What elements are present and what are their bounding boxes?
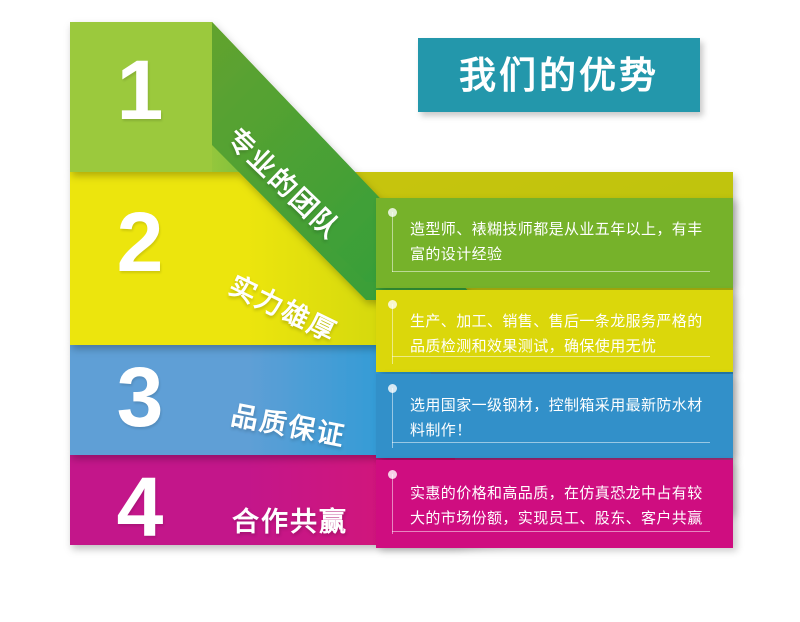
bullet-dot-icon bbox=[388, 208, 397, 217]
description-text-4: 实惠的价格和高品质，在仿真恐龙中占有较大的市场份额，实现员工、股东、客户共赢 bbox=[410, 482, 711, 532]
bracket-vertical-line bbox=[392, 212, 393, 272]
description-text-1: 造型师、裱糊技师都是从业五年以上，有丰富的设计经验 bbox=[410, 218, 711, 268]
item-number-2: 2 bbox=[95, 200, 185, 284]
infographic-canvas: 1 2 3 4 专业的团队 实力雄厚 品质保证 合作共赢 我们的优势 造型师、裱… bbox=[0, 0, 800, 622]
description-text-3: 选用国家一级钢材，控制箱采用最新防水材料制作！ bbox=[410, 394, 711, 444]
item-label-4: 合作共赢 bbox=[232, 500, 348, 539]
heading-banner: 我们的优势 bbox=[418, 38, 700, 112]
bullet-dot-icon bbox=[388, 470, 397, 479]
bracket-vertical-line bbox=[392, 388, 393, 448]
bracket-vertical-line bbox=[392, 304, 393, 364]
page-title: 我们的优势 bbox=[459, 57, 659, 94]
bullet-dot-icon bbox=[388, 384, 397, 393]
description-card-1: 造型师、裱糊技师都是从业五年以上，有丰富的设计经验 bbox=[376, 198, 733, 288]
bracket-vertical-line bbox=[392, 474, 393, 534]
description-text-2: 生产、加工、销售、售后一条龙服务严格的品质检测和效果测试，确保使用无忧 bbox=[410, 310, 711, 360]
item-number-1: 1 bbox=[95, 48, 185, 132]
bracket-horizontal-line bbox=[392, 271, 710, 272]
description-card-3: 选用国家一级钢材，控制箱采用最新防水材料制作！ bbox=[376, 374, 733, 458]
description-card-4: 实惠的价格和高品质，在仿真恐龙中占有较大的市场份额，实现员工、股东、客户共赢 bbox=[376, 460, 733, 548]
item-number-3: 3 bbox=[95, 355, 185, 439]
description-card-2: 生产、加工、销售、售后一条龙服务严格的品质检测和效果测试，确保使用无忧 bbox=[376, 290, 733, 372]
item-number-4: 4 bbox=[95, 465, 185, 549]
bullet-dot-icon bbox=[388, 300, 397, 309]
